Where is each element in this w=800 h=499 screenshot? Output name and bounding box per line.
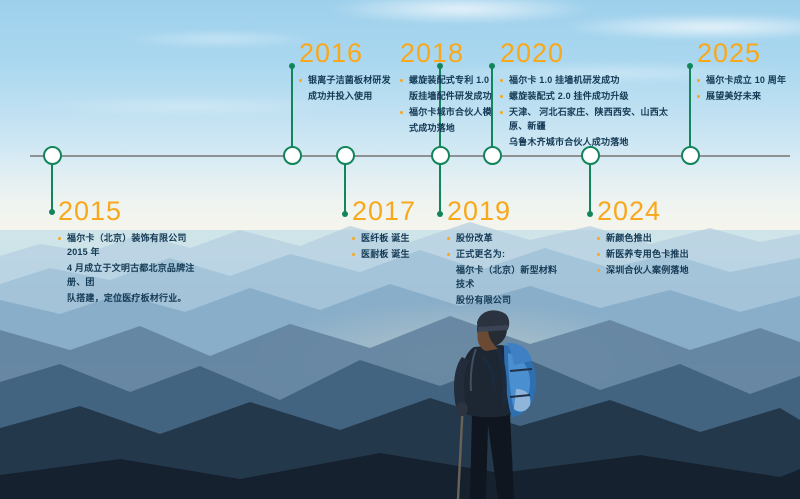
bullet-item: 新医养专用色卡推出 <box>597 247 717 261</box>
timeline-stem-2017 <box>344 160 347 214</box>
bullet-item: 福尔卡（北京）装饰有限公司 2015 年 <box>58 231 210 259</box>
milestone-2018[interactable]: 2018 螺旋装配式专利 1.0 版挂墙配件研发成功 福尔卡城市合伙人模 式成功… <box>400 38 496 137</box>
cloud-wisp <box>40 96 340 116</box>
milestone-year-2017: 2017 <box>352 196 442 226</box>
bullet-item: 福尔卡 1.0 挂墙机研发成功 <box>500 73 680 87</box>
timeline-stem-2015 <box>51 160 54 212</box>
bullet-item: 螺旋装配式 2.0 挂件成功升级 <box>500 89 680 103</box>
milestone-2024[interactable]: 2024 新颜色推出 新医养专用色卡推出 深圳合伙人案例落地 <box>597 196 717 279</box>
bullet-item: 天津、 河北石家庄、陕西西安、山西太原、新疆 <box>500 105 680 133</box>
bullet-item: 股份改革 <box>447 231 563 245</box>
milestone-bullets-2015: 福尔卡（北京）装饰有限公司 2015 年 4 月成立于文明古都北京品牌注册、团 … <box>58 231 210 305</box>
bullet-item: 福尔卡成立 10 周年 <box>697 73 797 87</box>
bullet-continuation: 式成功落地 <box>400 121 496 135</box>
timeline-stem-2024 <box>589 160 592 214</box>
bullet-item: 深圳合伙人案例落地 <box>597 263 717 277</box>
timeline-node-2017[interactable] <box>336 146 355 165</box>
milestone-year-2020: 2020 <box>500 38 680 68</box>
bullet-continuation: 版挂墙配件研发成功 <box>400 89 496 103</box>
milestone-bullets-2020: 福尔卡 1.0 挂墙机研发成功 螺旋装配式 2.0 挂件成功升级 天津、 河北石… <box>500 73 680 149</box>
timeline-node-2020[interactable] <box>483 146 502 165</box>
bullet-item: 螺旋装配式专利 1.0 <box>400 73 496 87</box>
milestone-bullets-2024: 新颜色推出 新医养专用色卡推出 深圳合伙人案例落地 <box>597 231 717 277</box>
timeline-node-2025[interactable] <box>681 146 700 165</box>
timeline-stem-2016 <box>291 66 294 148</box>
bullet-continuation: 队搭建，定位医疗板材行业。 <box>58 291 210 305</box>
timeline-node-2015[interactable] <box>43 146 62 165</box>
bullet-item: 展望美好未来 <box>697 89 797 103</box>
bullet-continuation: 成功并投入使用 <box>299 89 395 103</box>
bullet-item: 正式更名为: <box>447 247 563 261</box>
milestone-year-2018: 2018 <box>400 38 496 68</box>
bullet-continuation: 福尔卡（北京）新型材料技术 <box>447 263 563 291</box>
timeline-infographic: 2016 银离子洁菌板材研发 成功并投入使用 2018 螺旋装配式专利 1.0 … <box>0 0 800 499</box>
summit-foreground <box>0 445 800 499</box>
bullet-item: 医耐板 诞生 <box>352 247 442 261</box>
milestone-2017[interactable]: 2017 医纤板 诞生 医耐板 诞生 <box>352 196 442 263</box>
milestone-bullets-2019: 股份改革 正式更名为: 福尔卡（北京）新型材料技术 股份有限公司 <box>447 231 563 307</box>
milestone-bullets-2017: 医纤板 诞生 医耐板 诞生 <box>352 231 442 261</box>
timeline-stem-2025 <box>689 66 692 148</box>
bullet-item: 银离子洁菌板材研发 <box>299 73 395 87</box>
milestone-2020[interactable]: 2020 福尔卡 1.0 挂墙机研发成功 螺旋装配式 2.0 挂件成功升级 天津… <box>500 38 680 151</box>
milestone-year-2019: 2019 <box>447 196 563 226</box>
bullet-item: 新颜色推出 <box>597 231 717 245</box>
milestone-bullets-2025: 福尔卡成立 10 周年 展望美好未来 <box>697 73 797 103</box>
cloud-wisp <box>120 30 320 48</box>
milestone-year-2015: 2015 <box>58 196 210 226</box>
milestone-bullets-2018: 螺旋装配式专利 1.0 版挂墙配件研发成功 福尔卡城市合伙人模 式成功落地 <box>400 73 496 135</box>
milestone-2015[interactable]: 2015 福尔卡（北京）装饰有限公司 2015 年 4 月成立于文明古都北京品牌… <box>58 196 210 307</box>
bullet-continuation: 股份有限公司 <box>447 293 563 307</box>
bullet-continuation: 乌鲁木齐城市合伙人成功落地 <box>500 135 680 149</box>
milestone-year-2025: 2025 <box>697 38 797 68</box>
bullet-item: 福尔卡城市合伙人模 <box>400 105 496 119</box>
milestone-year-2024: 2024 <box>597 196 717 226</box>
milestone-2019[interactable]: 2019 股份改革 正式更名为: 福尔卡（北京）新型材料技术 股份有限公司 <box>447 196 563 309</box>
bullet-item: 医纤板 诞生 <box>352 231 442 245</box>
bullet-continuation: 4 月成立于文明古都北京品牌注册、团 <box>58 261 210 289</box>
timeline-node-2018-2019[interactable] <box>431 146 450 165</box>
milestone-bullets-2016: 银离子洁菌板材研发 成功并投入使用 <box>299 73 395 103</box>
milestone-2016[interactable]: 2016 银离子洁菌板材研发 成功并投入使用 <box>299 38 395 105</box>
timeline-axis <box>30 155 790 157</box>
timeline-node-2016[interactable] <box>283 146 302 165</box>
milestone-2025[interactable]: 2025 福尔卡成立 10 周年 展望美好未来 <box>697 38 797 105</box>
milestone-year-2016: 2016 <box>299 38 395 68</box>
hiker-figure <box>420 305 550 499</box>
